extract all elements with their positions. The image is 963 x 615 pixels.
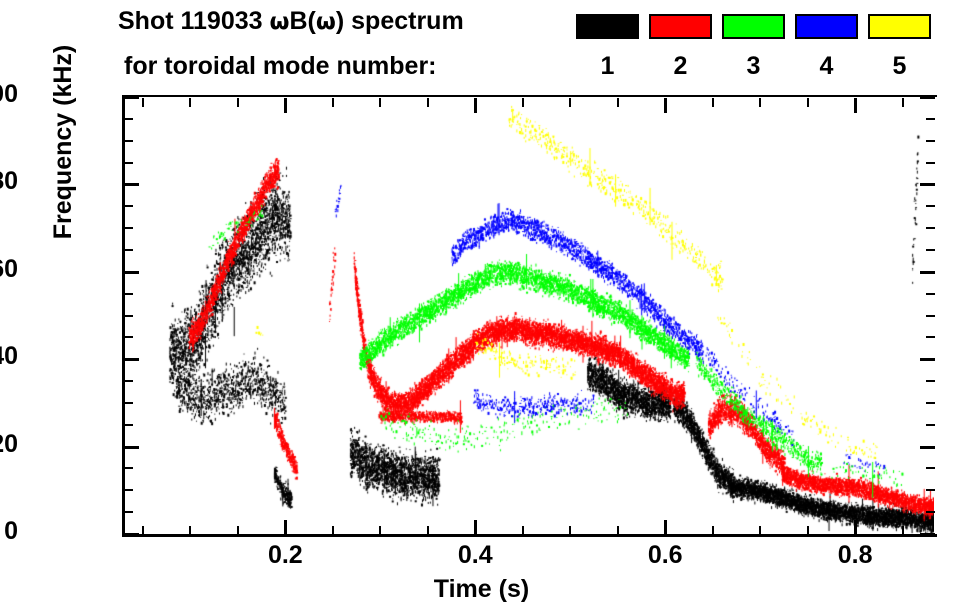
y-tick-right-80 [920, 183, 935, 186]
y-tick-major-80 [124, 183, 139, 186]
y-tick-minor-30 [124, 402, 133, 404]
legend-swatch-4 [795, 14, 858, 39]
y-tick-minor-65 [124, 249, 133, 251]
x-tick-top-0.6 [664, 98, 667, 113]
y-tick-label-40: 40 [0, 342, 18, 371]
y-tick-minor-15 [124, 467, 133, 469]
y-tick-right-50 [926, 315, 935, 317]
legend-swatch-2 [649, 14, 712, 39]
y-tick-major-40 [124, 358, 139, 361]
y-tick-right-40 [920, 358, 935, 361]
y-tick-minor-5 [124, 511, 133, 513]
x-tick-top-0.25 [332, 98, 334, 107]
y-tick-right-5 [926, 511, 935, 513]
x-tick-label-0.4: 0.4 [430, 541, 520, 570]
figure-subtitle: for toroidal mode number: [124, 52, 437, 81]
omega-symbol-1: ω [269, 9, 289, 35]
x-tick-minor-0.55 [617, 526, 619, 535]
x-tick-label-0.2: 0.2 [240, 541, 330, 570]
y-tick-minor-55 [124, 293, 133, 295]
y-tick-label-80: 80 [0, 167, 18, 196]
x-tick-top-0.85 [902, 98, 904, 107]
x-tick-minor-0.25 [332, 526, 334, 535]
x-tick-top-0.5 [569, 98, 571, 107]
x-tick-label-0.6: 0.6 [620, 541, 710, 570]
y-tick-right-100 [920, 96, 935, 99]
x-tick-minor-0.1 [189, 526, 191, 535]
title-prefix: Shot 119033 [118, 7, 269, 35]
y-tick-major-0 [124, 533, 139, 536]
y-tick-minor-50 [124, 315, 133, 317]
x-tick-minor-0.15 [237, 526, 239, 535]
figure-title: Shot 119033 ωB(ω) spectrum [118, 7, 464, 36]
x-tick-top-0.4 [474, 98, 477, 113]
x-tick-top-0.7 [759, 98, 761, 107]
x-tick-top-0.8 [854, 98, 857, 113]
y-tick-minor-90 [124, 140, 133, 142]
y-tick-right-10 [926, 489, 935, 491]
spectrogram-plot-area [123, 98, 934, 534]
y-tick-right-25 [926, 424, 935, 426]
y-axis-title: Frequency (kHz) [49, 7, 78, 277]
y-tick-minor-45 [124, 336, 133, 338]
y-tick-right-85 [926, 162, 935, 164]
y-tick-right-90 [926, 140, 935, 142]
y-tick-right-45 [926, 336, 935, 338]
x-tick-top-0.2 [284, 98, 287, 113]
y-tick-right-30 [926, 402, 935, 404]
x-tick-major-0.8 [854, 520, 857, 535]
legend-swatch-5 [868, 14, 931, 39]
y-tick-right-60 [920, 271, 935, 274]
figure-header: Shot 119033 ωB(ω) spectrum for toroidal … [0, 0, 963, 95]
legend-label-5: 5 [868, 52, 931, 81]
x-tick-top-0.1 [189, 98, 191, 107]
x-tick-minor-0.45 [522, 526, 524, 535]
x-tick-top-0.45 [522, 98, 524, 107]
legend-label-4: 4 [795, 52, 858, 81]
x-tick-top-0.65 [712, 98, 714, 107]
y-tick-right-75 [926, 205, 935, 207]
y-tick-minor-35 [124, 380, 133, 382]
y-tick-minor-95 [124, 118, 133, 120]
x-tick-major-0.4 [474, 520, 477, 535]
x-tick-minor-0.7 [759, 526, 761, 535]
y-tick-minor-70 [124, 227, 133, 229]
x-tick-top-0.15 [237, 98, 239, 107]
x-tick-top-0.35 [427, 98, 429, 107]
y-tick-minor-25 [124, 424, 133, 426]
y-tick-right-70 [926, 227, 935, 229]
y-tick-label-60: 60 [0, 255, 18, 284]
spectrogram-canvas [123, 98, 934, 534]
x-tick-top-0.3 [379, 98, 381, 107]
y-tick-right-35 [926, 380, 935, 382]
y-tick-label-20: 20 [0, 430, 18, 459]
y-tick-major-20 [124, 446, 139, 449]
legend-label-1: 1 [576, 52, 639, 81]
y-tick-major-100 [124, 96, 139, 99]
y-tick-major-60 [124, 271, 139, 274]
omega-symbol-2: ω [316, 9, 336, 35]
x-tick-major-0.2 [284, 520, 287, 535]
x-tick-minor-0.35 [427, 526, 429, 535]
x-tick-minor-0.05 [142, 526, 144, 535]
y-tick-label-100: 100 [0, 80, 18, 109]
x-tick-minor-0.3 [379, 526, 381, 535]
y-tick-right-15 [926, 467, 935, 469]
y-tick-right-20 [920, 446, 935, 449]
x-tick-top-0.05 [142, 98, 144, 107]
x-tick-major-0.6 [664, 520, 667, 535]
y-tick-minor-75 [124, 205, 133, 207]
y-tick-minor-85 [124, 162, 133, 164]
x-tick-minor-0.5 [569, 526, 571, 535]
x-tick-minor-0.75 [807, 526, 809, 535]
y-tick-right-95 [926, 118, 935, 120]
x-tick-minor-0.85 [902, 526, 904, 535]
y-tick-right-0 [920, 533, 935, 536]
legend-swatch-3 [722, 14, 785, 39]
y-tick-right-65 [926, 249, 935, 251]
x-tick-minor-0.65 [712, 526, 714, 535]
y-tick-minor-10 [124, 489, 133, 491]
y-tick-label-0: 0 [4, 517, 18, 546]
y-tick-right-55 [926, 293, 935, 295]
x-axis-title: Time (s) [0, 575, 963, 604]
x-tick-top-0.75 [807, 98, 809, 107]
legend-label-2: 2 [649, 52, 712, 81]
x-tick-top-0.55 [617, 98, 619, 107]
title-mid: B( [289, 7, 315, 35]
title-suffix: ) spectrum [336, 7, 464, 35]
legend-swatch-1 [576, 14, 639, 39]
x-tick-label-0.8: 0.8 [810, 541, 900, 570]
legend-label-3: 3 [722, 52, 785, 81]
spectrogram-figure: Shot 119033 ωB(ω) spectrum for toroidal … [0, 0, 963, 615]
